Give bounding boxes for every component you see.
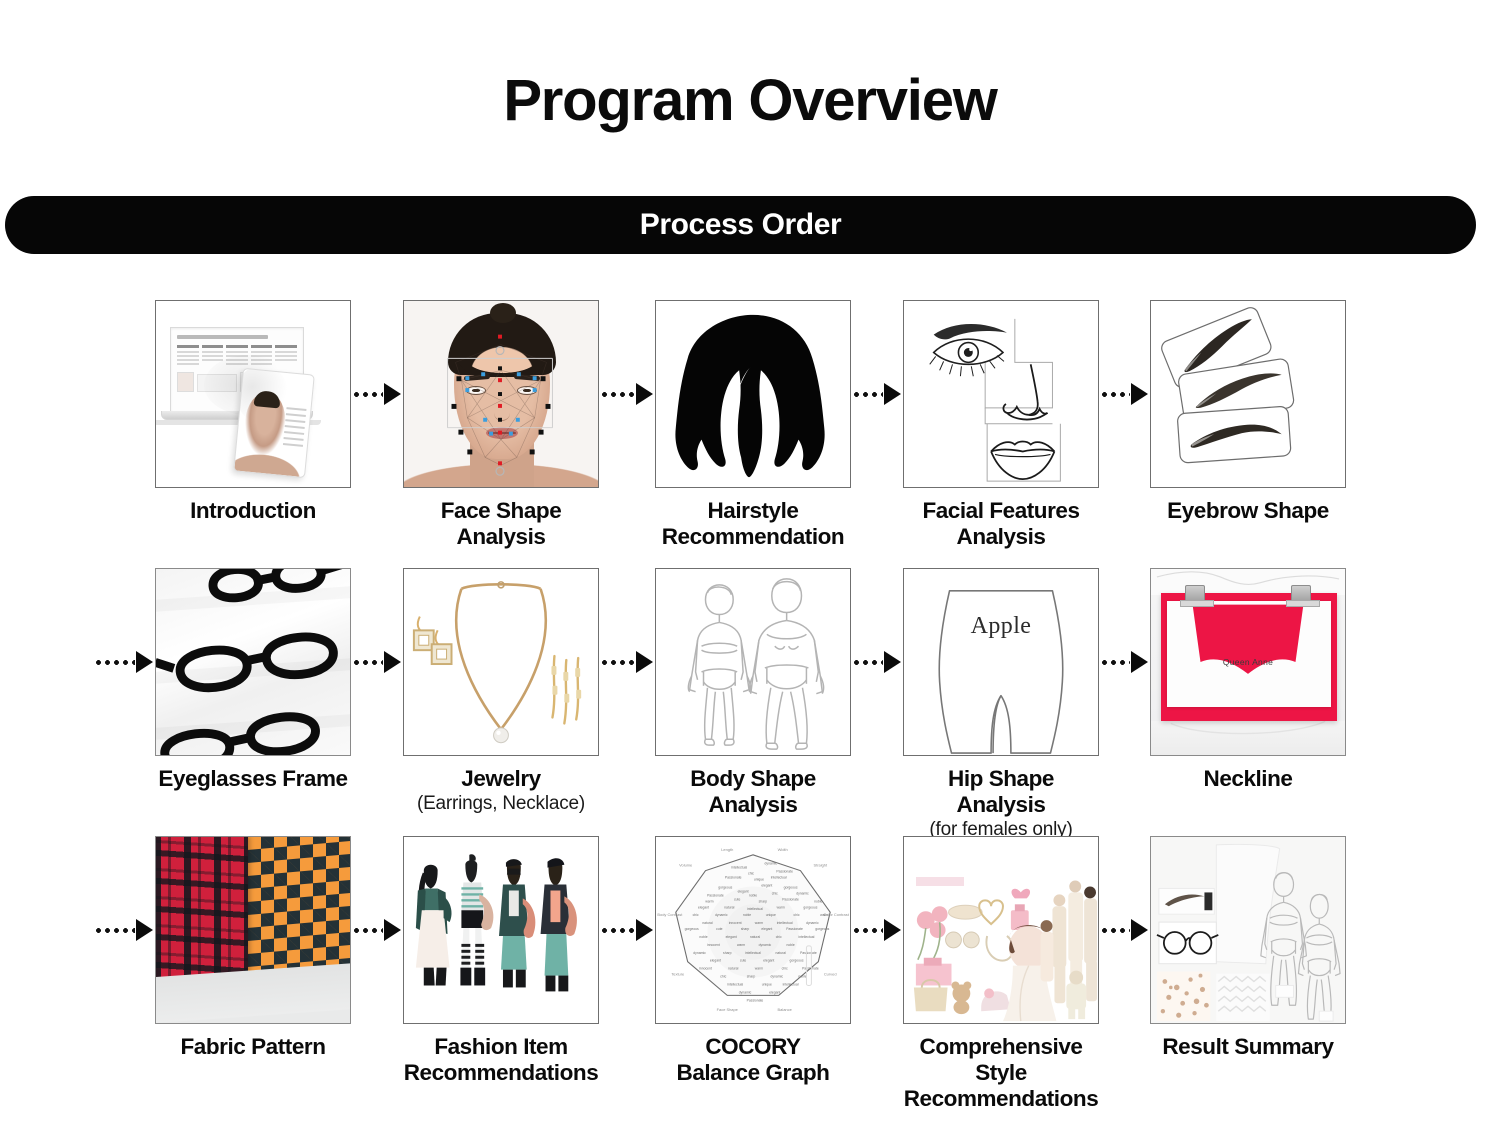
svg-text:chic: chic <box>794 913 800 917</box>
dotted-line <box>94 660 135 665</box>
glasses-shapes-icon <box>156 569 350 755</box>
flow-arrow-1-2 <box>352 384 401 404</box>
step-thumbnail-fabric-pattern[interactable] <box>155 836 351 1024</box>
step-label: Eyebrow Shape <box>1150 498 1346 524</box>
step-label: Eyeglasses Frame <box>155 766 351 792</box>
step-label: Result Summary <box>1150 1034 1346 1060</box>
svg-text:dynamic: dynamic <box>759 943 772 947</box>
svg-text:dynamic: dynamic <box>796 891 809 895</box>
flow-step-neckline[interactable]: Queen Anne Neckline <box>1150 568 1346 792</box>
svg-text:Passionate: Passionate <box>725 876 742 880</box>
svg-text:dynamic: dynamic <box>765 862 778 866</box>
hip-shape-word-label: Apple <box>904 613 1098 640</box>
svg-text:sharp: sharp <box>741 927 750 931</box>
step-label: Neckline <box>1150 766 1346 792</box>
step-thumbnail-jewelry[interactable] <box>403 568 599 756</box>
svg-text:intellectual: intellectual <box>747 907 763 911</box>
svg-text:Curved: Curved <box>824 972 837 977</box>
flow-arrow-9-10 <box>1100 652 1148 672</box>
fashion-figure <box>460 854 493 985</box>
arrow-head-icon <box>1131 651 1148 673</box>
flow-step-eyeglasses-frame[interactable]: Eyeglasses Frame <box>155 568 351 792</box>
flow-step-fashion-item-recommendations[interactable]: Fashion Item Recommendations <box>403 836 599 1086</box>
svg-text:Volume: Volume <box>679 863 693 868</box>
step-label: Jewelry <box>403 766 599 792</box>
plaid-and-checkerboard-fabric-icon <box>156 837 350 1023</box>
svg-text:intellectual: intellectual <box>727 982 743 986</box>
section-bar-label: Process Order <box>640 208 842 242</box>
svg-text:gorgeous: gorgeous <box>803 905 817 909</box>
female-male-body-outline-icon <box>656 569 850 755</box>
svg-text:warm: warm <box>777 905 785 909</box>
svg-text:elegant: elegant <box>761 883 772 887</box>
arrow-head-icon <box>636 383 653 405</box>
svg-text:chic: chic <box>776 935 782 939</box>
step-label: Facial Features Analysis <box>903 498 1099 550</box>
fashion-figure <box>499 859 535 987</box>
arrow-head-icon <box>884 651 901 673</box>
step-label: Body Shape Analysis <box>655 766 851 818</box>
hip-outline-icon <box>904 569 1098 755</box>
svg-text:intellectual: intellectual <box>798 935 814 939</box>
long-wavy-hair-silhouette-icon <box>656 301 850 487</box>
flow-step-cocory-balance-graph[interactable]: LengthWidth StraightVolume Color Contras… <box>655 836 851 1086</box>
dotted-line <box>600 660 635 665</box>
svg-text:cute: cute <box>734 897 740 901</box>
dotted-line <box>600 392 635 397</box>
svg-text:Passionate: Passionate <box>776 870 793 874</box>
svg-text:innocent: innocent <box>699 967 712 971</box>
svg-text:chic: chic <box>748 872 754 876</box>
svg-text:gorgeous: gorgeous <box>815 927 829 931</box>
summary-sheets-icon <box>1151 837 1345 1023</box>
dotted-line <box>852 660 883 665</box>
step-thumbnail-facial-features-analysis[interactable] <box>903 300 1099 488</box>
svg-text:dynamic: dynamic <box>739 990 752 994</box>
svg-text:warm: warm <box>705 899 713 903</box>
arrow-head-icon <box>1131 383 1148 405</box>
step-thumbnail-comprehensive-style-recommendations[interactable] <box>903 836 1099 1024</box>
step-thumbnail-eyeglasses-frame[interactable] <box>155 568 351 756</box>
svg-text:chic: chic <box>720 975 726 979</box>
flow-arrow-6-7 <box>352 652 401 672</box>
svg-text:innocent: innocent <box>729 921 742 925</box>
page-title: Program Overview <box>0 72 1500 130</box>
flow-step-hip-shape-analysis[interactable]: Apple Hip Shape Analysis (for females on… <box>903 568 1099 842</box>
svg-text:intellectual: intellectual <box>783 982 799 986</box>
arrow-head-icon <box>884 383 901 405</box>
flow-step-eyebrow-shape[interactable]: Eyebrow Shape <box>1150 300 1346 524</box>
svg-text:intellectual: intellectual <box>745 951 761 955</box>
step-thumbnail-neckline[interactable]: Queen Anne <box>1150 568 1346 756</box>
dotted-line <box>1100 392 1130 397</box>
flow-row-1: Introduction <box>0 300 1500 568</box>
flow-step-comprehensive-style-recommendations[interactable]: Comprehensive Style Recommendations <box>903 836 1099 1112</box>
svg-text:warm: warm <box>737 943 745 947</box>
svg-text:Texture: Texture <box>671 972 685 977</box>
svg-text:noble: noble <box>743 913 751 917</box>
flow-arrow-row2-entry <box>94 652 153 672</box>
flow-arrow-12-13 <box>600 920 653 940</box>
dotted-line <box>352 660 383 665</box>
svg-text:noble: noble <box>798 975 806 979</box>
step-thumbnail-hairstyle-recommendation[interactable] <box>655 300 851 488</box>
arrow-head-icon <box>384 651 401 673</box>
svg-text:dynamic: dynamic <box>715 913 728 917</box>
arrow-head-icon <box>636 919 653 941</box>
step-label: Fabric Pattern <box>155 1034 351 1060</box>
eye-nose-lips-stair-icon <box>904 301 1098 487</box>
arrow-head-icon <box>384 383 401 405</box>
svg-text:Body Contrast: Body Contrast <box>657 912 683 917</box>
svg-text:elegant: elegant <box>698 905 709 909</box>
svg-text:natural: natural <box>702 921 713 925</box>
dotted-line <box>352 928 383 933</box>
arrow-head-icon <box>136 919 153 941</box>
flow-arrow-2-3 <box>600 384 653 404</box>
flow-arrow-7-8 <box>600 652 653 672</box>
flow-step-hairstyle-recommendation[interactable]: Hairstyle Recommendation <box>655 300 851 550</box>
svg-text:Length: Length <box>721 847 733 852</box>
arrow-head-icon <box>384 919 401 941</box>
laptop-tablet-dashboard-icon <box>156 301 350 487</box>
svg-text:cute: cute <box>740 959 746 963</box>
svg-text:elegant: elegant <box>769 990 780 994</box>
svg-text:natural: natural <box>724 905 735 909</box>
result-summary-board-icon <box>1151 837 1345 1023</box>
flow-step-fabric-pattern[interactable]: Fabric Pattern <box>155 836 351 1060</box>
flow-step-facial-features-analysis[interactable]: Facial Features Analysis <box>903 300 1099 550</box>
flow-step-body-shape-analysis[interactable]: Body Shape Analysis <box>655 568 851 818</box>
flow-arrow-4-5 <box>1100 384 1148 404</box>
svg-text:Face Shape: Face Shape <box>717 1007 739 1012</box>
dotted-line <box>1100 928 1130 933</box>
flow-row-2: Eyeglasses Frame <box>0 568 1500 836</box>
svg-text:Passionate: Passionate <box>707 893 724 897</box>
dotted-line <box>1100 660 1130 665</box>
flow-row-3: Fabric Pattern <box>0 836 1500 1111</box>
flow-arrow-14-15 <box>1100 920 1148 940</box>
svg-text:sharp: sharp <box>747 975 756 979</box>
svg-text:chic: chic <box>772 891 778 895</box>
svg-text:elegant: elegant <box>710 959 721 963</box>
binder-clip-icon <box>1291 585 1311 603</box>
svg-text:elegant: elegant <box>738 889 749 893</box>
lips-illustration-icon <box>991 442 1054 480</box>
svg-text:dynamic: dynamic <box>806 921 819 925</box>
necklace-earrings-icon <box>404 569 598 755</box>
dotted-line <box>352 392 383 397</box>
svg-text:Passionate: Passionate <box>782 897 799 901</box>
program-overview-page: Program Overview Process Order <box>0 0 1500 1143</box>
svg-text:dynamic: dynamic <box>770 975 783 979</box>
svg-text:Straight: Straight <box>814 863 828 868</box>
arrow-head-icon <box>884 919 901 941</box>
arrow-head-icon <box>1131 919 1148 941</box>
flow-arrow-11-12 <box>352 920 401 940</box>
step-label: COCORY Balance Graph <box>655 1034 851 1086</box>
svg-text:Passionate: Passionate <box>786 927 803 931</box>
svg-text:dynamic: dynamic <box>693 951 706 955</box>
svg-text:elegant: elegant <box>763 959 774 963</box>
landmark-mesh-overlay-icon <box>404 301 598 487</box>
svg-text:elegant: elegant <box>761 927 772 931</box>
three-eyebrow-cards-icon <box>1151 301 1345 487</box>
process-order-header-bar: Process Order <box>5 196 1476 254</box>
svg-text:Width: Width <box>778 847 788 852</box>
step-label: Face Shape Analysis <box>403 498 599 550</box>
svg-text:unique: unique <box>766 913 776 917</box>
svg-text:warm: warm <box>755 921 763 925</box>
svg-text:gorgeous: gorgeous <box>790 959 804 963</box>
binder-clip-icon <box>1185 585 1205 603</box>
svg-text:intellectual: intellectual <box>777 921 793 925</box>
svg-text:gorgeous: gorgeous <box>718 885 732 889</box>
svg-text:Passionate: Passionate <box>802 967 819 971</box>
svg-text:warm: warm <box>820 913 828 917</box>
svg-text:gorgeous: gorgeous <box>784 885 798 889</box>
flow-step-face-shape-analysis[interactable]: Face Shape Analysis <box>403 300 599 550</box>
step-thumbnail-body-shape-analysis[interactable] <box>655 568 851 756</box>
svg-text:noble: noble <box>814 899 822 903</box>
flow-step-jewelry[interactable]: Jewelry (Earrings, Necklace) <box>403 568 599 816</box>
step-thumbnail-hip-shape-analysis[interactable]: Apple <box>903 568 1099 756</box>
step-thumbnail-fashion-item-recommendations[interactable] <box>403 836 599 1024</box>
face-landmark-mesh-icon <box>404 301 598 487</box>
step-thumbnail-result-summary[interactable] <box>1150 836 1346 1024</box>
svg-text:chic: chic <box>693 913 699 917</box>
svg-text:gorgeous: gorgeous <box>685 927 699 931</box>
flow-arrow-3-4 <box>852 384 901 404</box>
svg-text:unique: unique <box>762 982 772 986</box>
svg-text:natural: natural <box>728 967 739 971</box>
nose-illustration-icon <box>1003 364 1047 419</box>
svg-text:intellectual: intellectual <box>731 866 747 870</box>
neckline-name-label: Queen Anne <box>1151 657 1345 667</box>
svg-text:noble: noble <box>749 893 757 897</box>
collage-items-icon <box>904 837 1098 1023</box>
dotted-line <box>852 928 883 933</box>
fashion-figure-illustrations-icon <box>404 837 598 1023</box>
svg-text:natural: natural <box>776 951 787 955</box>
arrow-head-icon <box>136 651 153 673</box>
svg-text:unique: unique <box>754 878 764 882</box>
step-label: Hip Shape Analysis <box>903 766 1099 818</box>
fashion-figure <box>416 865 452 986</box>
dotted-line <box>94 928 135 933</box>
decagon-word-balance-graph-icon: LengthWidth StraightVolume Color Contras… <box>656 837 850 1023</box>
step-label: Introduction <box>155 498 351 524</box>
dotted-line <box>852 392 883 397</box>
svg-text:noble: noble <box>786 943 794 947</box>
svg-text:noble: noble <box>699 935 707 939</box>
flow-arrow-13-14 <box>852 920 901 940</box>
arrow-head-icon <box>636 651 653 673</box>
dotted-line <box>600 928 635 933</box>
step-sublabel: (Earrings, Necklace) <box>403 793 599 816</box>
svg-text:sharp: sharp <box>759 899 768 903</box>
pastel-style-collage-icon <box>904 837 1098 1023</box>
svg-text:chic: chic <box>782 967 788 971</box>
eye-illustration-icon <box>930 324 1007 376</box>
process-flow-grid: Introduction <box>0 300 1500 1111</box>
svg-text:elegant: elegant <box>726 935 737 939</box>
step-label: Comprehensive Style Recommendations <box>903 1034 1099 1112</box>
svg-text:Passionate: Passionate <box>747 998 764 1002</box>
svg-text:sharp: sharp <box>723 951 732 955</box>
step-thumbnail-eyebrow-shape[interactable] <box>1150 300 1346 488</box>
svg-text:natural: natural <box>750 935 761 939</box>
fashion-figure <box>541 858 577 991</box>
step-thumbnail-introduction[interactable] <box>155 300 351 488</box>
svg-text:innocent: innocent <box>707 943 720 947</box>
step-label: Fashion Item Recommendations <box>403 1034 599 1086</box>
queen-anne-neckline-card-icon: Queen Anne <box>1151 569 1345 755</box>
svg-text:warm: warm <box>755 967 763 971</box>
eyeglasses-frames-photo-icon <box>156 569 350 755</box>
step-label: Hairstyle Recommendation <box>655 498 851 550</box>
step-thumbnail-cocory-balance-graph[interactable]: LengthWidth StraightVolume Color Contras… <box>655 836 851 1024</box>
flow-step-result-summary[interactable]: Result Summary <box>1150 836 1346 1060</box>
svg-text:Balance: Balance <box>778 1007 793 1012</box>
flow-arrow-row3-entry <box>94 920 153 940</box>
step-thumbnail-face-shape-analysis[interactable] <box>403 300 599 488</box>
flow-step-introduction[interactable]: Introduction <box>155 300 351 524</box>
svg-text:cute: cute <box>716 927 722 931</box>
svg-text:Passionate: Passionate <box>800 951 817 955</box>
flow-arrow-8-9 <box>852 652 901 672</box>
svg-text:intellectual: intellectual <box>771 876 787 880</box>
